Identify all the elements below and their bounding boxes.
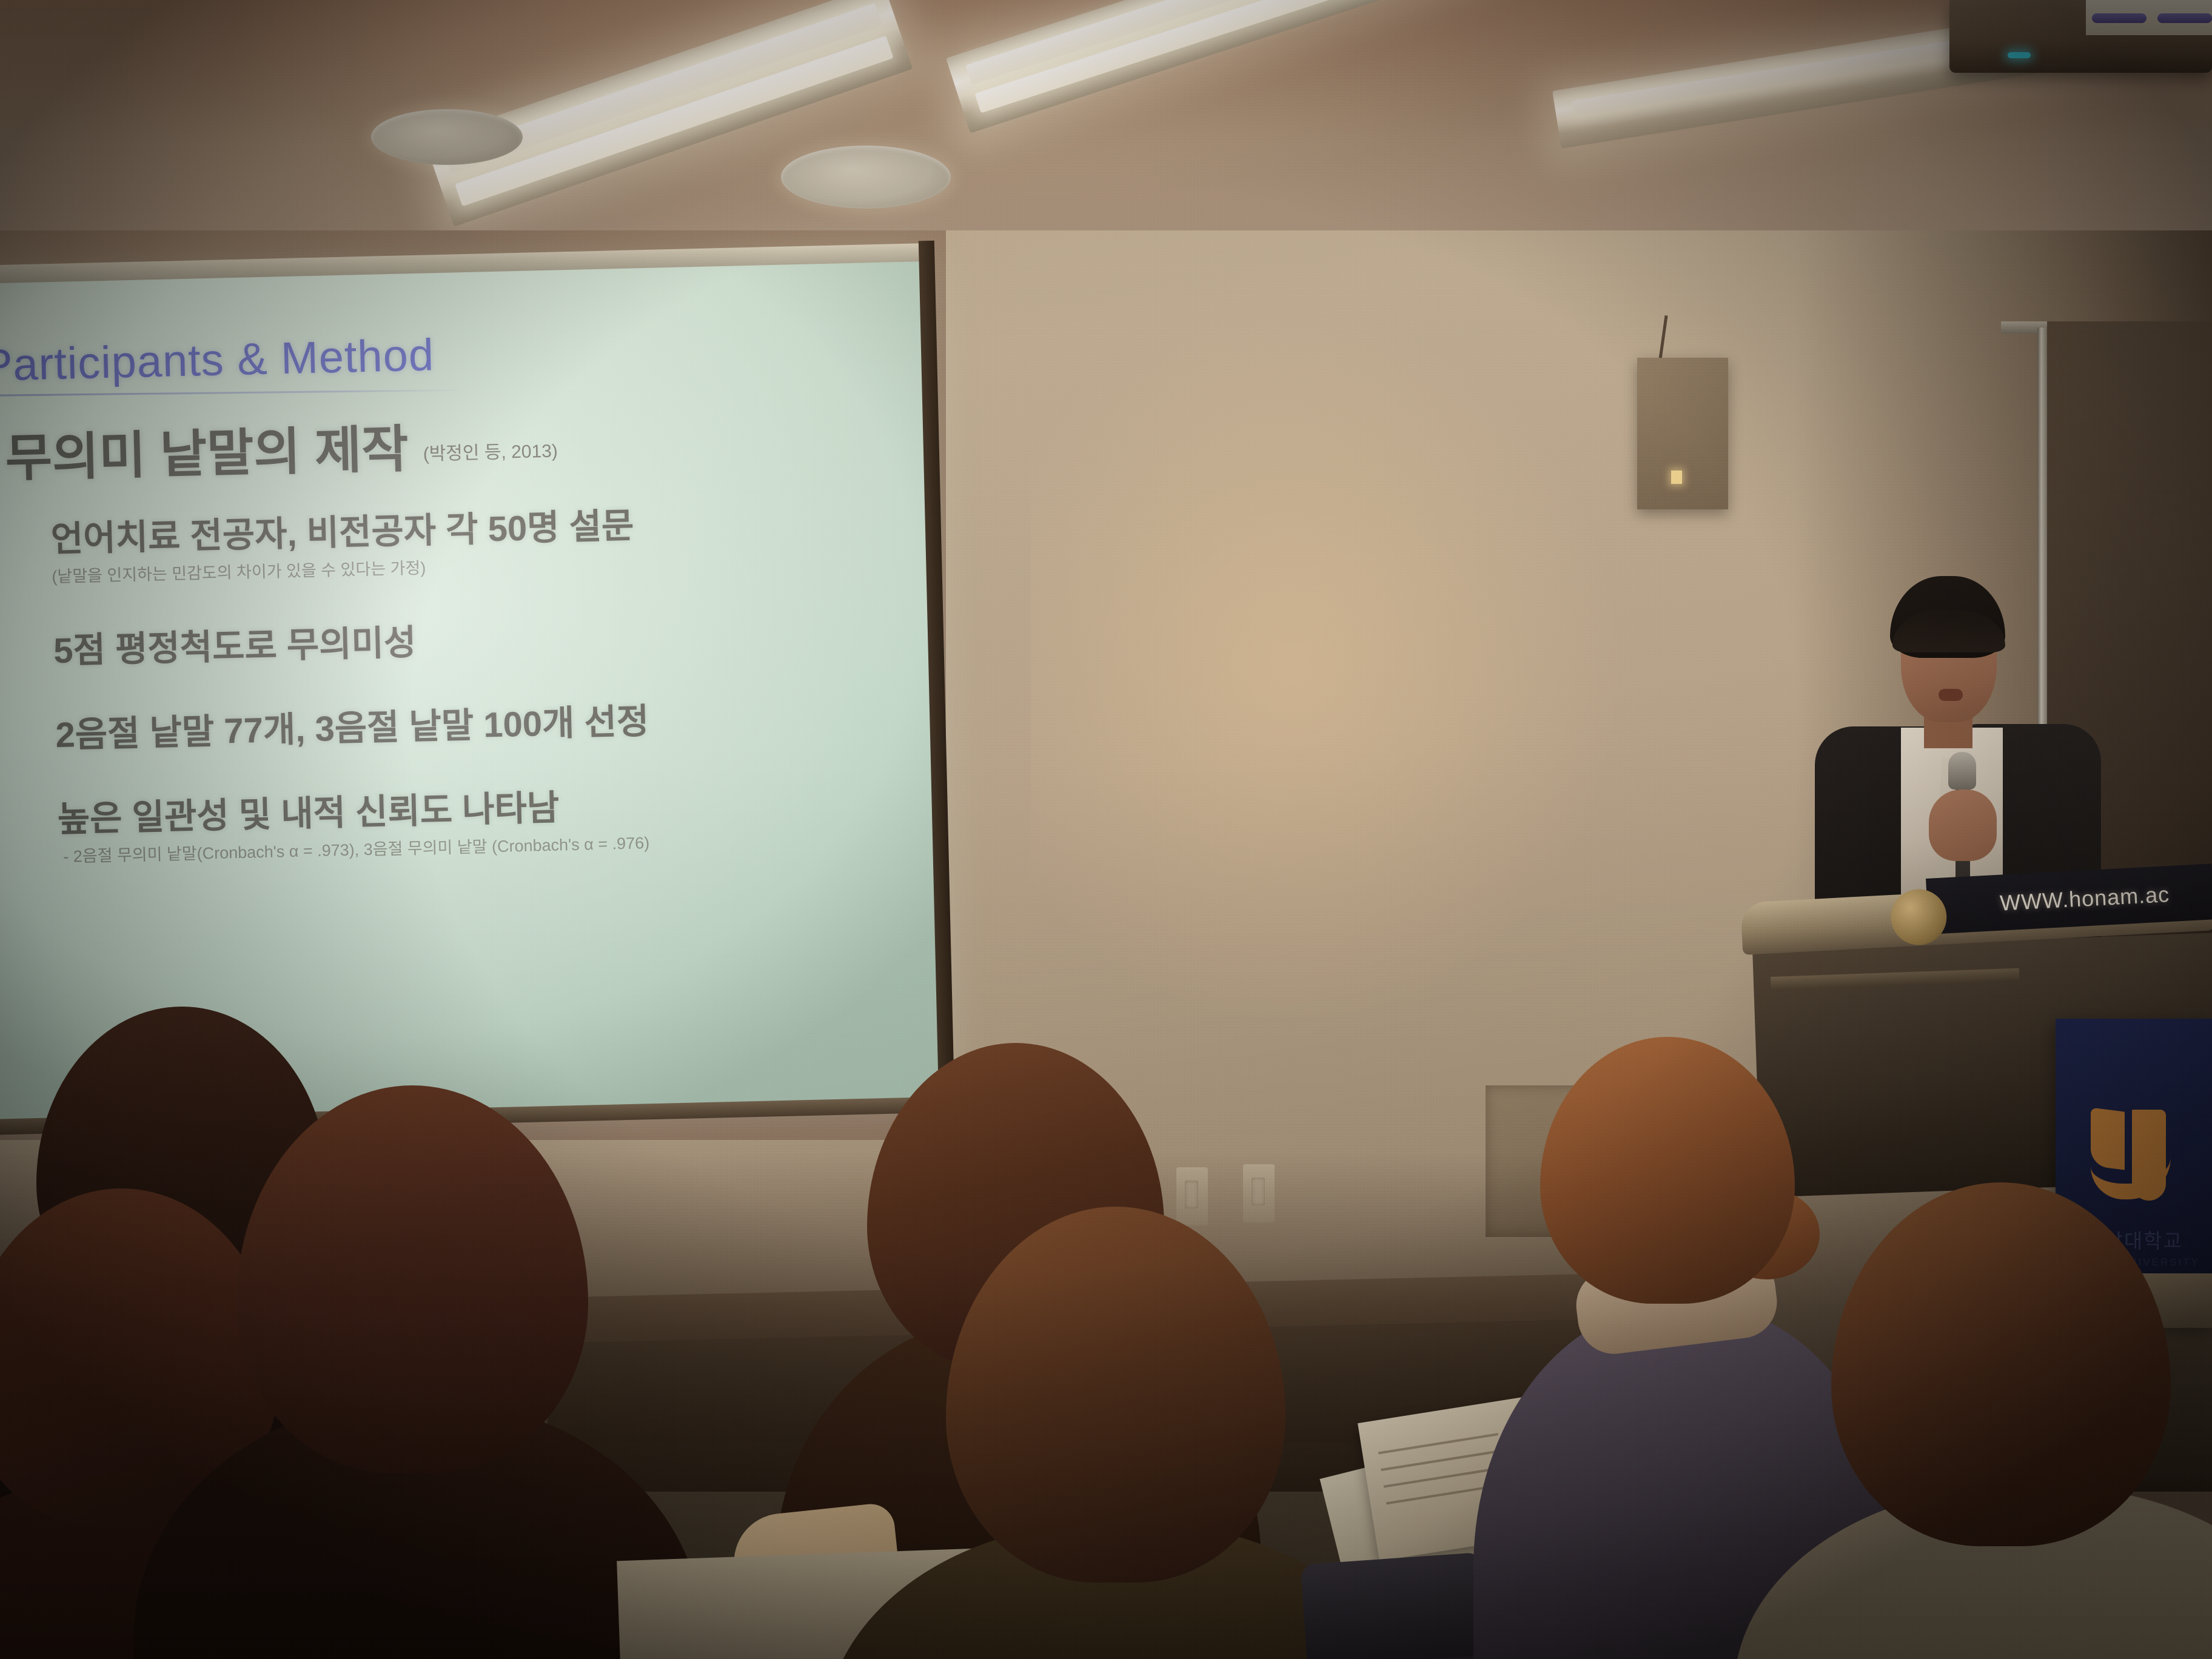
slide-bullet-1: 언어치료 전공자, 비전공자 각 50명 설문 (낱말을 인지하는 민감도의 차… <box>7 501 883 588</box>
speaker-indicator-led <box>1671 471 1682 484</box>
ceiling-downlight-center <box>781 146 951 209</box>
presenter-hand <box>1929 789 1997 861</box>
slide-bullet-3-text: 2음절 낱말 77개, 3음절 낱말 100개 선정 <box>55 696 888 755</box>
ceiling-downlight-left <box>371 109 523 165</box>
presenter-mouth <box>1939 689 1963 701</box>
slide-title: 무의미 낱말의 제작 <box>5 423 409 484</box>
projector-power-led <box>2008 52 2031 58</box>
slide-title-citation: (박정인 등, 2013) <box>423 435 558 474</box>
handheld-microphone-head <box>1948 752 1976 789</box>
lecture-hall-photo: Participants & Method 무의미 낱말의 제작 (박정인 등,… <box>0 0 2212 1659</box>
slide-bullet-2: 5점 평정척도로 무의미성 <box>10 612 886 672</box>
slide-header-rule <box>0 389 464 397</box>
slide-title-row: 무의미 낱말의 제작 (박정인 등, 2013) <box>5 412 882 484</box>
university-logo-icon <box>2091 1110 2180 1207</box>
slide-section-header: Participants & Method <box>0 321 879 389</box>
wall-speaker <box>1637 358 1728 509</box>
slide-bullet-2-text: 5점 평정척도로 무의미성 <box>53 612 886 671</box>
slide-bullet-4: 높은 일관성 및 내적 신뢰도 나타남 - 2음절 무의미 낱말(Cronbac… <box>13 780 890 868</box>
slide-content: Participants & Method 무의미 낱말의 제작 (박정인 등,… <box>0 261 941 1120</box>
projected-slide-surface: Participants & Method 무의미 낱말의 제작 (박정인 등,… <box>0 261 941 1120</box>
slide-bullet-3: 2음절 낱말 77개, 3음절 낱말 100개 선정 <box>12 696 888 756</box>
shoulder-bag <box>1300 1552 1489 1659</box>
projector-ceiling-mount <box>2086 0 2212 35</box>
slide-body: 무의미 낱말의 제작 (박정인 등, 2013) 언어치료 전공자, 비전공자 … <box>0 412 890 868</box>
podium-url-text: WWW.honam.ac <box>1999 882 2170 916</box>
